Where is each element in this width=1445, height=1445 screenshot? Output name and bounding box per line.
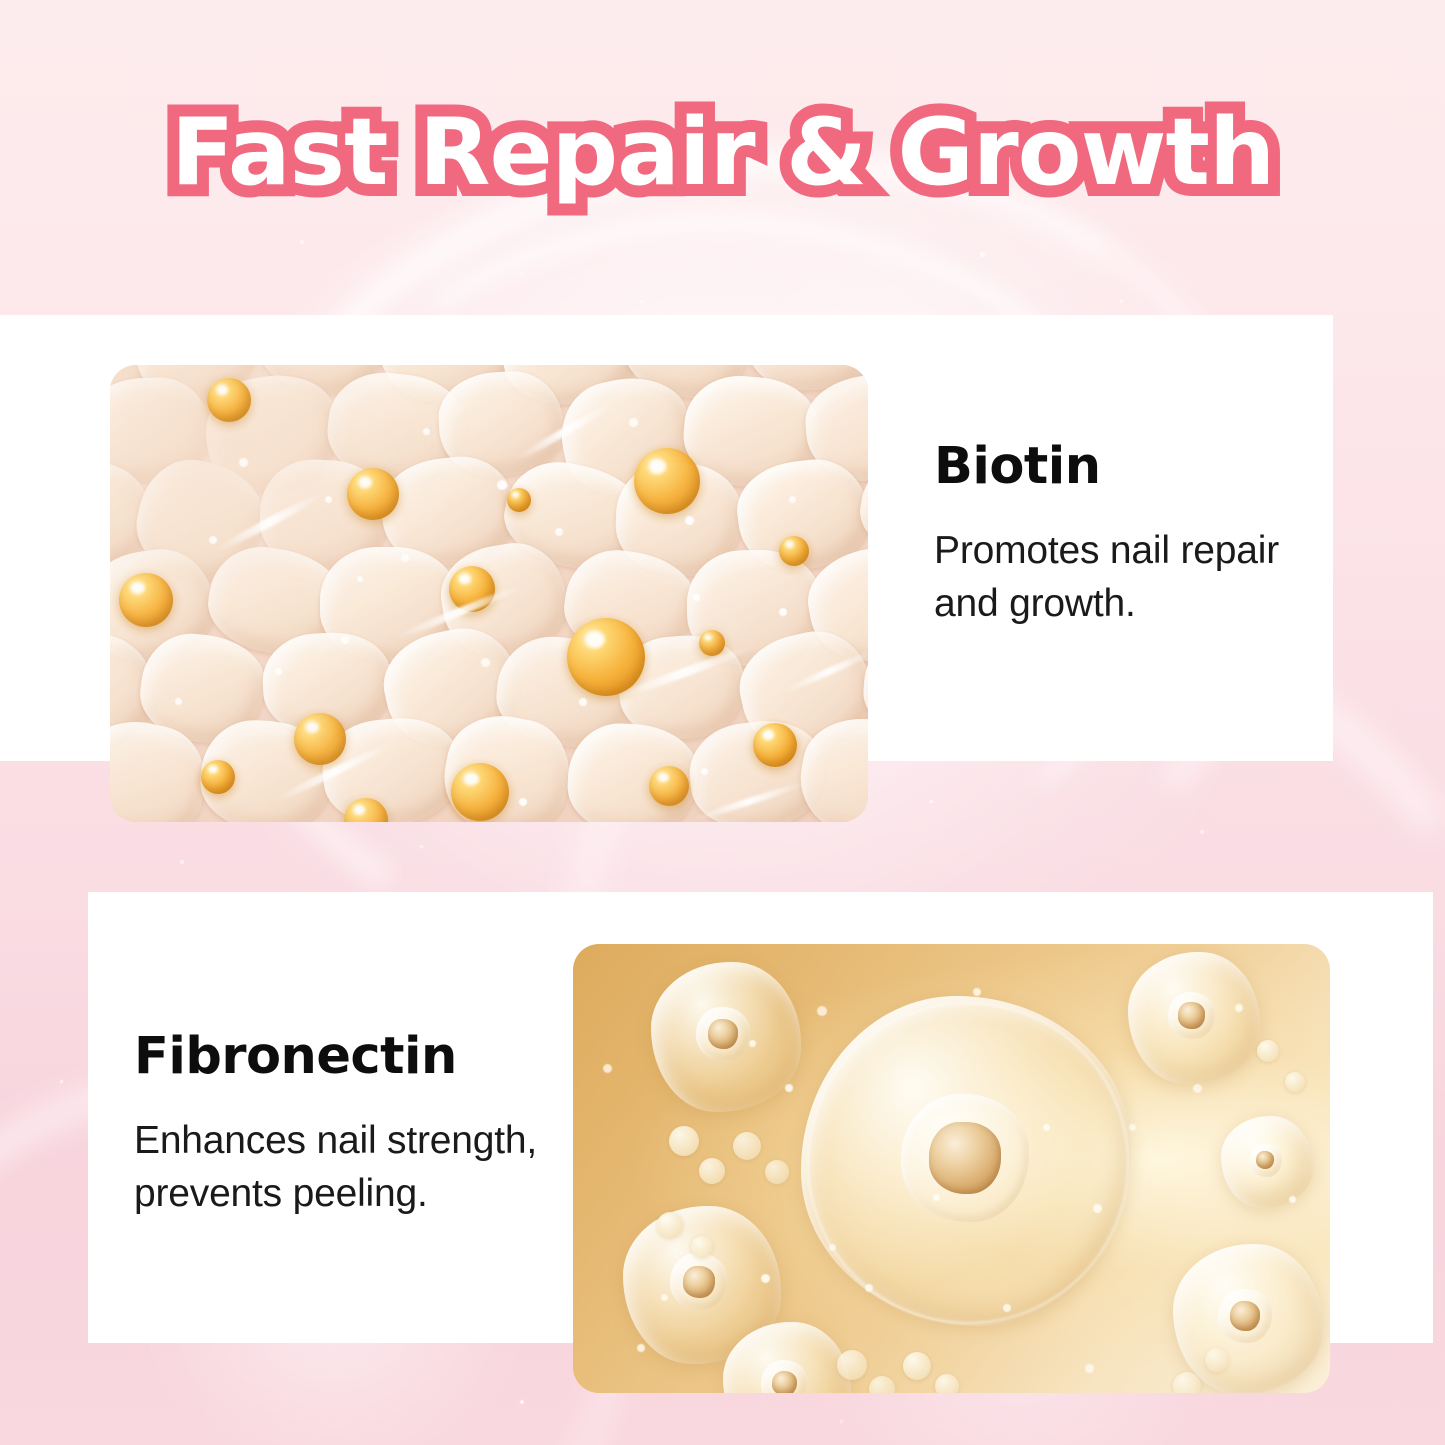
page-title: Fast Repair & Growth	[171, 104, 1274, 202]
serum-molecule-pearl	[765, 1160, 789, 1184]
serum-light-mote	[1129, 1124, 1136, 1131]
serum-molecule-pearl	[1205, 1348, 1229, 1372]
serum-vesicle-bottom-left-nucleus	[683, 1266, 715, 1298]
sparkle-dot	[640, 300, 643, 303]
serum-molecule-pearl	[657, 1212, 683, 1238]
benefit-copy-fibronectin: Fibronectin Enhances nail strength, prev…	[134, 1030, 574, 1221]
infographic-stage: Fast Repair & Growth Biotin Promotes nai…	[0, 0, 1445, 1445]
serum-light-mote	[1093, 1204, 1102, 1213]
sparkle-dot	[420, 845, 423, 848]
serum-molecule-pearl	[669, 1126, 699, 1156]
sparkle-dot	[1200, 830, 1204, 834]
serum-light-mote	[973, 988, 981, 996]
serum-light-mote	[1003, 1304, 1011, 1312]
serum-light-mote	[817, 1006, 827, 1016]
benefit-description-biotin: Promotes nail repair and growth.	[934, 524, 1329, 632]
serum-light-mote	[713, 1008, 720, 1015]
serum-molecule-pearl	[837, 1350, 867, 1380]
serum-light-mote	[749, 1040, 756, 1047]
serum-light-mote	[1085, 1364, 1094, 1373]
serum-light-mote	[1193, 1084, 1202, 1093]
sparkle-dot	[930, 800, 933, 803]
benefit-image-biotin	[110, 365, 868, 822]
sparkle-dot	[520, 272, 523, 275]
serum-nucleus-large	[929, 1122, 1001, 1194]
sparkle-dot	[180, 860, 184, 864]
serum-light-mote	[829, 1244, 836, 1251]
serum-molecule-pearl	[903, 1352, 931, 1380]
sparkle-dot	[520, 1400, 524, 1404]
serum-vesicle-bottom-center-nucleus	[772, 1371, 798, 1393]
serum-vesicles	[573, 944, 1330, 1393]
serum-light-mote	[603, 1064, 612, 1073]
serum-molecule-pearl	[869, 1376, 895, 1393]
serum-light-mote	[933, 1194, 940, 1201]
serum-molecule-pearl	[1257, 1040, 1279, 1062]
serum-light-mote	[1043, 1124, 1050, 1131]
benefit-heading-biotin: Biotin	[934, 440, 1329, 494]
serum-molecule-pearl	[691, 1236, 713, 1258]
sparkle-dot	[840, 1420, 843, 1423]
serum-vesicle-bottom-right-nucleus	[1230, 1301, 1260, 1331]
serum-molecule-pearl	[935, 1374, 959, 1393]
sparkle-dot	[60, 1080, 63, 1083]
serum-vesicle-top-right-nucleus	[1178, 1002, 1205, 1029]
sparkle-dot	[1120, 300, 1123, 303]
serum-light-mote	[761, 1274, 770, 1283]
serum-light-mote	[1289, 1196, 1296, 1203]
serum-vesicle-top-left-nucleus	[708, 1019, 738, 1049]
serum-light-mote	[785, 1084, 793, 1092]
serum-light-mote	[1235, 1004, 1243, 1012]
honeycomb-cells	[110, 365, 868, 822]
serum-light-mote	[661, 1294, 668, 1301]
serum-molecule-pearl	[1285, 1072, 1305, 1092]
sparkle-dot	[980, 252, 985, 257]
serum-light-mote	[637, 1344, 645, 1352]
serum-molecule-pearl	[733, 1132, 761, 1160]
title-banner: Fast Repair & Growth	[0, 104, 1445, 202]
benefit-heading-fibronectin: Fibronectin	[134, 1030, 574, 1084]
sparkle-dot	[300, 240, 304, 244]
serum-molecule-pearl	[699, 1158, 725, 1184]
serum-molecule-pearl	[1173, 1372, 1201, 1393]
benefit-copy-biotin: Biotin Promotes nail repair and growth.	[934, 440, 1329, 631]
benefit-image-fibronectin	[573, 944, 1330, 1393]
benefit-description-fibronectin: Enhances nail strength, prevents peeling…	[134, 1114, 574, 1222]
serum-light-mote	[865, 1284, 873, 1292]
